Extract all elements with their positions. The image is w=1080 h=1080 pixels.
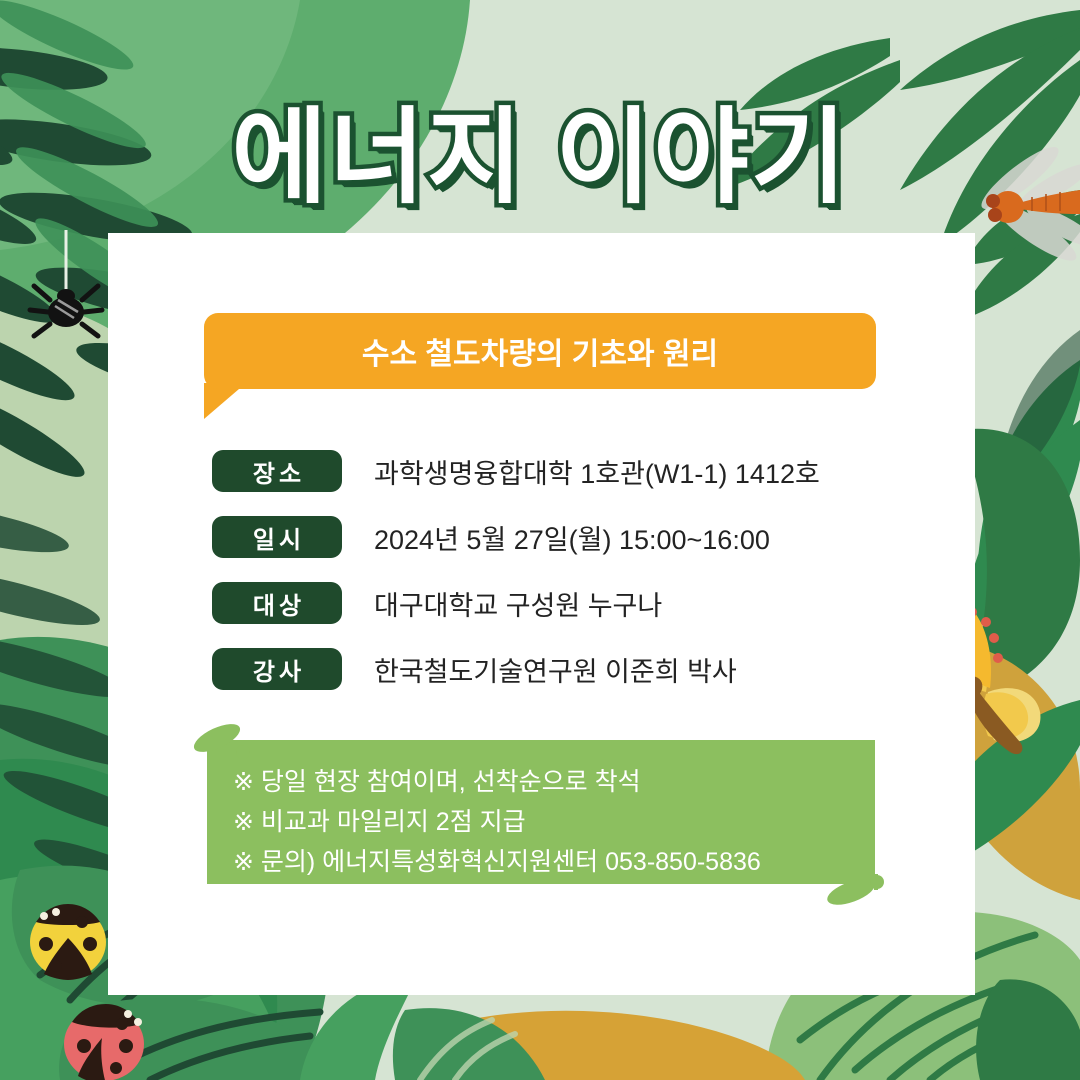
- label-location: 장소: [212, 450, 342, 492]
- content-card: 수소 철도차량의 기초와 원리 장소 과학생명융합대학 1호관(W1-1) 14…: [108, 233, 975, 995]
- label-audience: 대상: [212, 582, 342, 624]
- notes-box: ※ 당일 현장 참여이며, 선착순으로 착석 ※ 비교과 마일리지 2점 지급 …: [207, 740, 875, 884]
- note-line-2: ※ 비교과 마일리지 2점 지급: [233, 802, 875, 842]
- leaf-sprig-bottom-icon: [821, 864, 891, 914]
- info-row-audience: 대상 대구대학교 구성원 누구나: [212, 576, 952, 630]
- leaf-sprig-icon: [191, 718, 261, 768]
- label-speaker: 강사: [212, 648, 342, 690]
- page-title: 에너지 이야기: [232, 72, 849, 223]
- info-row-datetime: 일시 2024년 5월 27일(월) 15:00~16:00: [212, 510, 952, 564]
- info-row-speaker: 강사 한국철도기술연구원 이준희 박사: [212, 642, 952, 696]
- note-line-3: ※ 문의) 에너지특성화혁신지원센터 053-850-5836: [233, 842, 875, 882]
- note-line-1: ※ 당일 현장 참여이며, 선착순으로 착석: [233, 762, 875, 802]
- info-row-location: 장소 과학생명융합대학 1호관(W1-1) 1412호: [212, 444, 952, 498]
- poster-title-wrap: 에너지 이야기: [0, 72, 1080, 223]
- lecture-title: 수소 철도차량의 기초와 원리: [362, 329, 718, 373]
- event-info-list: 장소 과학생명융합대학 1호관(W1-1) 1412호 일시 2024년 5월 …: [212, 444, 952, 708]
- value-audience: 대구대학교 구성원 누구나: [374, 584, 662, 623]
- lecture-title-banner: 수소 철도차량의 기초와 원리: [204, 313, 876, 389]
- value-location: 과학생명융합대학 1호관(W1-1) 1412호: [374, 452, 820, 491]
- value-speaker: 한국철도기술연구원 이준희 박사: [374, 650, 737, 689]
- label-datetime: 일시: [212, 516, 342, 558]
- value-datetime: 2024년 5월 27일(월) 15:00~16:00: [374, 518, 770, 557]
- event-poster: 에너지 이야기 수소 철도차량의 기초와 원리 장소 과학생명융합대학 1호관(…: [0, 0, 1080, 1080]
